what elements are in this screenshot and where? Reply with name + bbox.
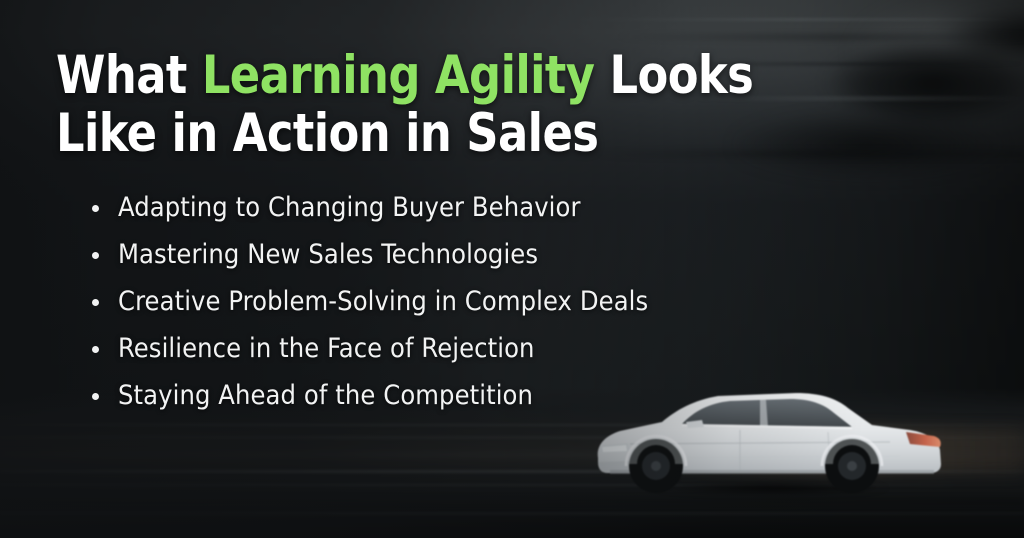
list-item-label: Creative Problem-Solving in Complex Deal…: [118, 286, 648, 317]
bullet-dot-icon: [92, 205, 99, 212]
content-layer: What Learning Agility LooksLike in Actio…: [0, 0, 1024, 538]
page-title: What Learning Agility LooksLike in Actio…: [56, 47, 864, 163]
headline-accent: Learning Agility: [202, 45, 595, 106]
bullet-dot-icon: [92, 393, 99, 400]
headline-line2: Like in Action in Sales: [56, 103, 598, 164]
list-item-label: Adapting to Changing Buyer Behavior: [118, 192, 581, 223]
list-item: Mastering New Sales Technologies: [84, 239, 648, 271]
list-item: Adapting to Changing Buyer Behavior: [84, 192, 648, 224]
list-item: Staying Ahead of the Competition: [84, 380, 648, 412]
list-item: Resilience in the Face of Rejection: [84, 333, 648, 365]
list-item-label: Staying Ahead of the Competition: [118, 380, 533, 411]
banner-graphic: What Learning Agility LooksLike in Actio…: [0, 0, 1024, 538]
list-item-label: Mastering New Sales Technologies: [118, 239, 538, 270]
headline-line1-after: Looks: [594, 45, 753, 106]
bullet-dot-icon: [92, 299, 99, 306]
bullet-list: Adapting to Changing Buyer Behavior Mast…: [84, 192, 648, 427]
headline-line1-before: What: [56, 45, 202, 106]
bullet-dot-icon: [92, 252, 99, 259]
bullet-dot-icon: [92, 346, 99, 353]
list-item-label: Resilience in the Face of Rejection: [118, 333, 535, 364]
list-item: Creative Problem-Solving in Complex Deal…: [84, 286, 648, 318]
